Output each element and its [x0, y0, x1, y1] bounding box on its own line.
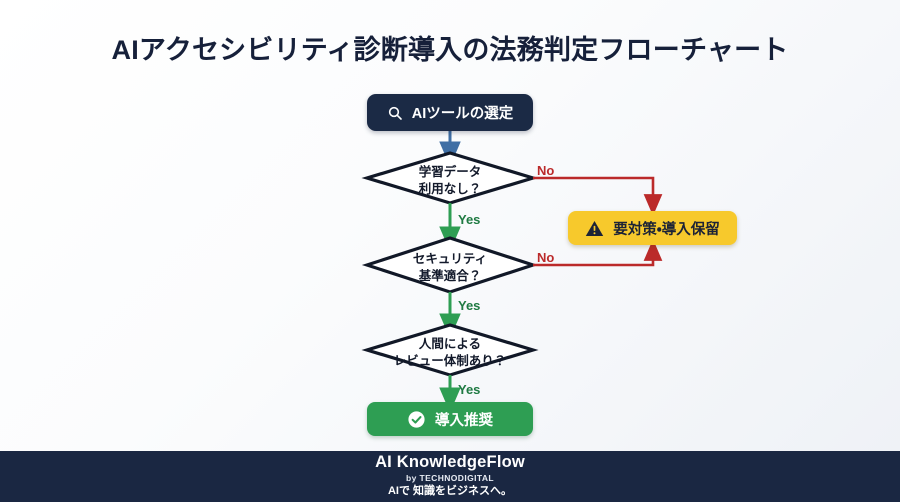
edge-label-no-2: No — [537, 250, 554, 265]
decision-1-line1: 学習データ — [360, 164, 540, 181]
node-warning-label: 要対策・導入保留 — [613, 218, 719, 239]
search-icon — [387, 105, 403, 121]
decision-3-line1: 人間による — [360, 336, 540, 353]
decision-3-label: 人間による レビュー体制あり？ — [360, 336, 540, 370]
decision-1-label: 学習データ 利用なし？ — [360, 164, 540, 198]
edge-decision1-no — [533, 178, 653, 205]
edge-label-yes-2: Yes — [458, 298, 480, 313]
footer-tagline: AIで 知識をビジネスへ。 — [388, 484, 512, 499]
decision-2-line1: セキュリティ — [360, 251, 540, 268]
slide-canvas: AIアクセシビリティ診断導入の法務判定フローチャート — [0, 0, 900, 502]
edge-label-no-1: No — [537, 163, 554, 178]
decision-3-line2: レビュー体制あり？ — [360, 353, 540, 370]
edge-label-yes-3: Yes — [458, 382, 480, 397]
decision-2-label: セキュリティ 基準適合？ — [360, 251, 540, 285]
decision-1-line2: 利用なし？ — [360, 181, 540, 198]
node-start-label: AIツールの選定 — [412, 102, 514, 123]
node-start[interactable]: AIツールの選定 — [367, 94, 533, 131]
check-circle-icon — [407, 410, 426, 429]
footer-brand: AI KnowledgeFlow — [375, 453, 525, 471]
edge-label-yes-1: Yes — [458, 212, 480, 227]
decision-2-line2: 基準適合？ — [360, 268, 540, 285]
footer-bar: AI KnowledgeFlow by TECHNODIGITAL AIで 知識… — [0, 451, 900, 502]
node-success-label: 導入推奨 — [435, 409, 493, 430]
footer-byline: by TECHNODIGITAL — [406, 472, 494, 485]
node-warning[interactable]: 要対策・導入保留 — [568, 211, 737, 245]
warning-triangle-icon — [585, 219, 604, 238]
node-success[interactable]: 導入推奨 — [367, 402, 533, 436]
